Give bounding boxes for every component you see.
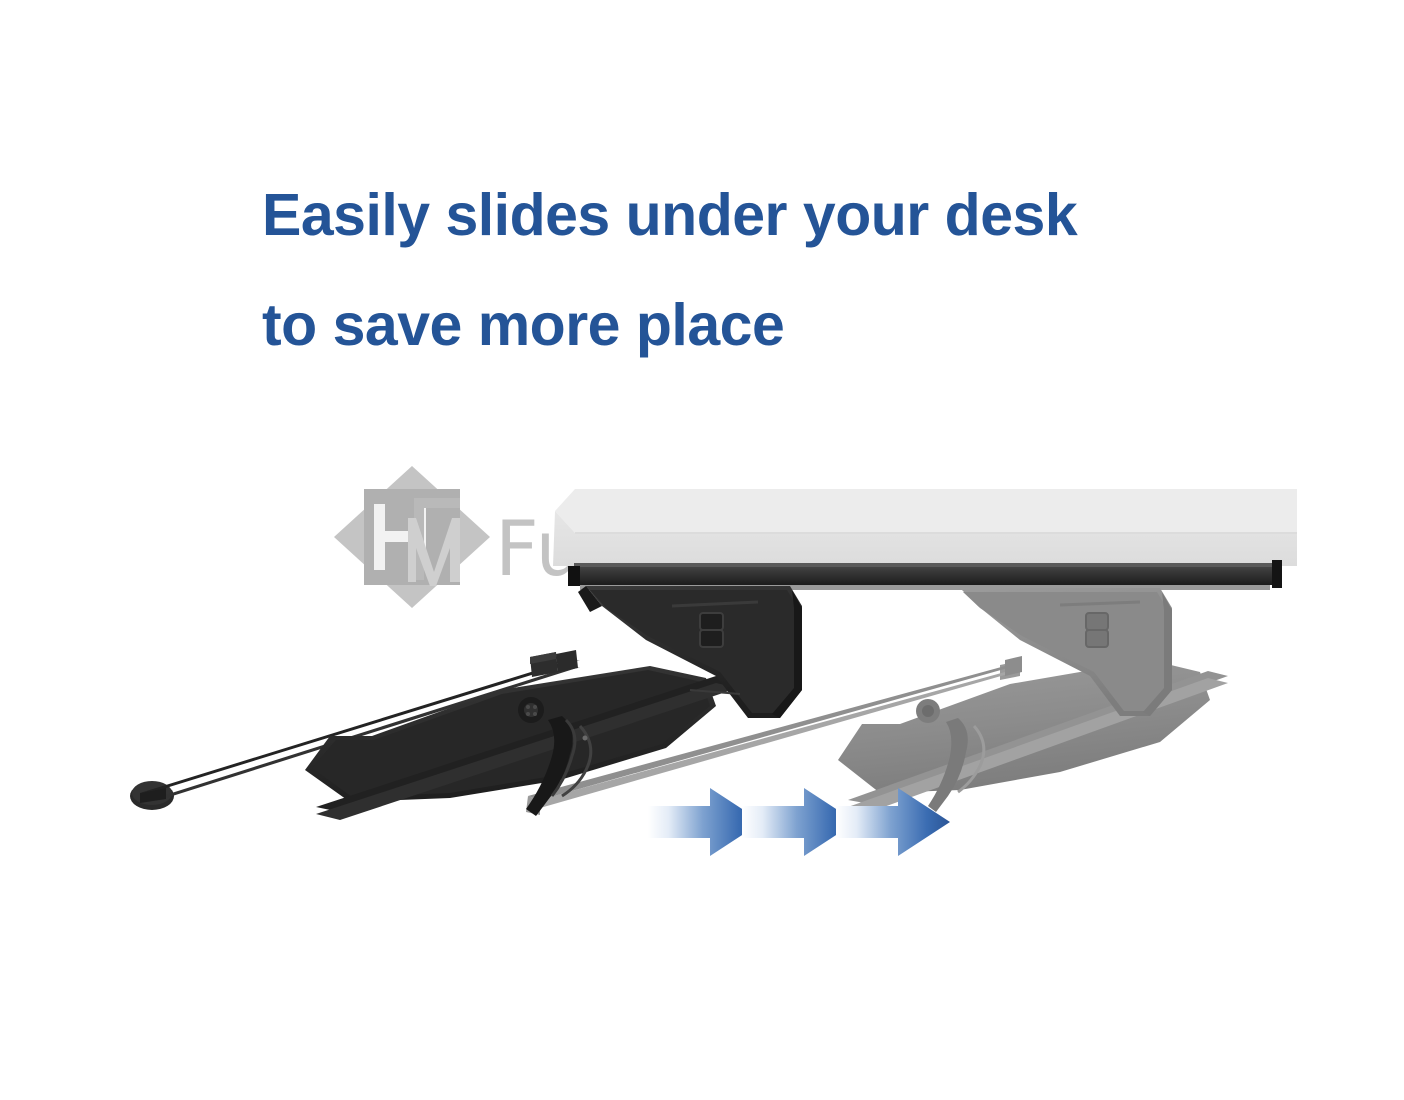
- pivot-screw-black: [518, 697, 544, 723]
- brand-watermark: Furniture Manila: [330, 462, 1120, 622]
- keyboard-tray-arm-retracted-ghost: [526, 588, 1228, 815]
- headline-line-1: Easily slides under your desk: [262, 188, 1222, 243]
- release-lever-handle: [526, 716, 591, 816]
- height-adjust-latch-black: [700, 613, 723, 647]
- slide-rail-gray: [526, 661, 1020, 815]
- page-title: Easily slides under your desk to save mo…: [262, 133, 1222, 407]
- under-desk-mounting-rail: [568, 560, 1282, 590]
- headline-line-2: to save more place: [262, 298, 1222, 353]
- desk-top-slab: [553, 489, 1297, 566]
- tray-arm-body-black: [305, 586, 802, 820]
- motion-arrow-3: [836, 788, 950, 856]
- motion-arrow-1: [648, 788, 762, 856]
- motion-direction-arrows: [648, 788, 950, 856]
- telescoping-slide-rail-black: [130, 652, 580, 810]
- pivot-screw-gray: [916, 699, 940, 723]
- product-marketing-image: Easily slides under your desk to save mo…: [0, 0, 1404, 1095]
- watermark-brand-text: Furniture Manila: [495, 504, 1126, 593]
- motion-arrow-2: [742, 788, 856, 856]
- furniture-manila-logo-icon: [330, 462, 495, 612]
- height-adjust-latch-gray: [1086, 613, 1108, 647]
- keyboard-tray-arm-extended: [130, 586, 802, 820]
- tray-arm-body-gray: [838, 588, 1228, 812]
